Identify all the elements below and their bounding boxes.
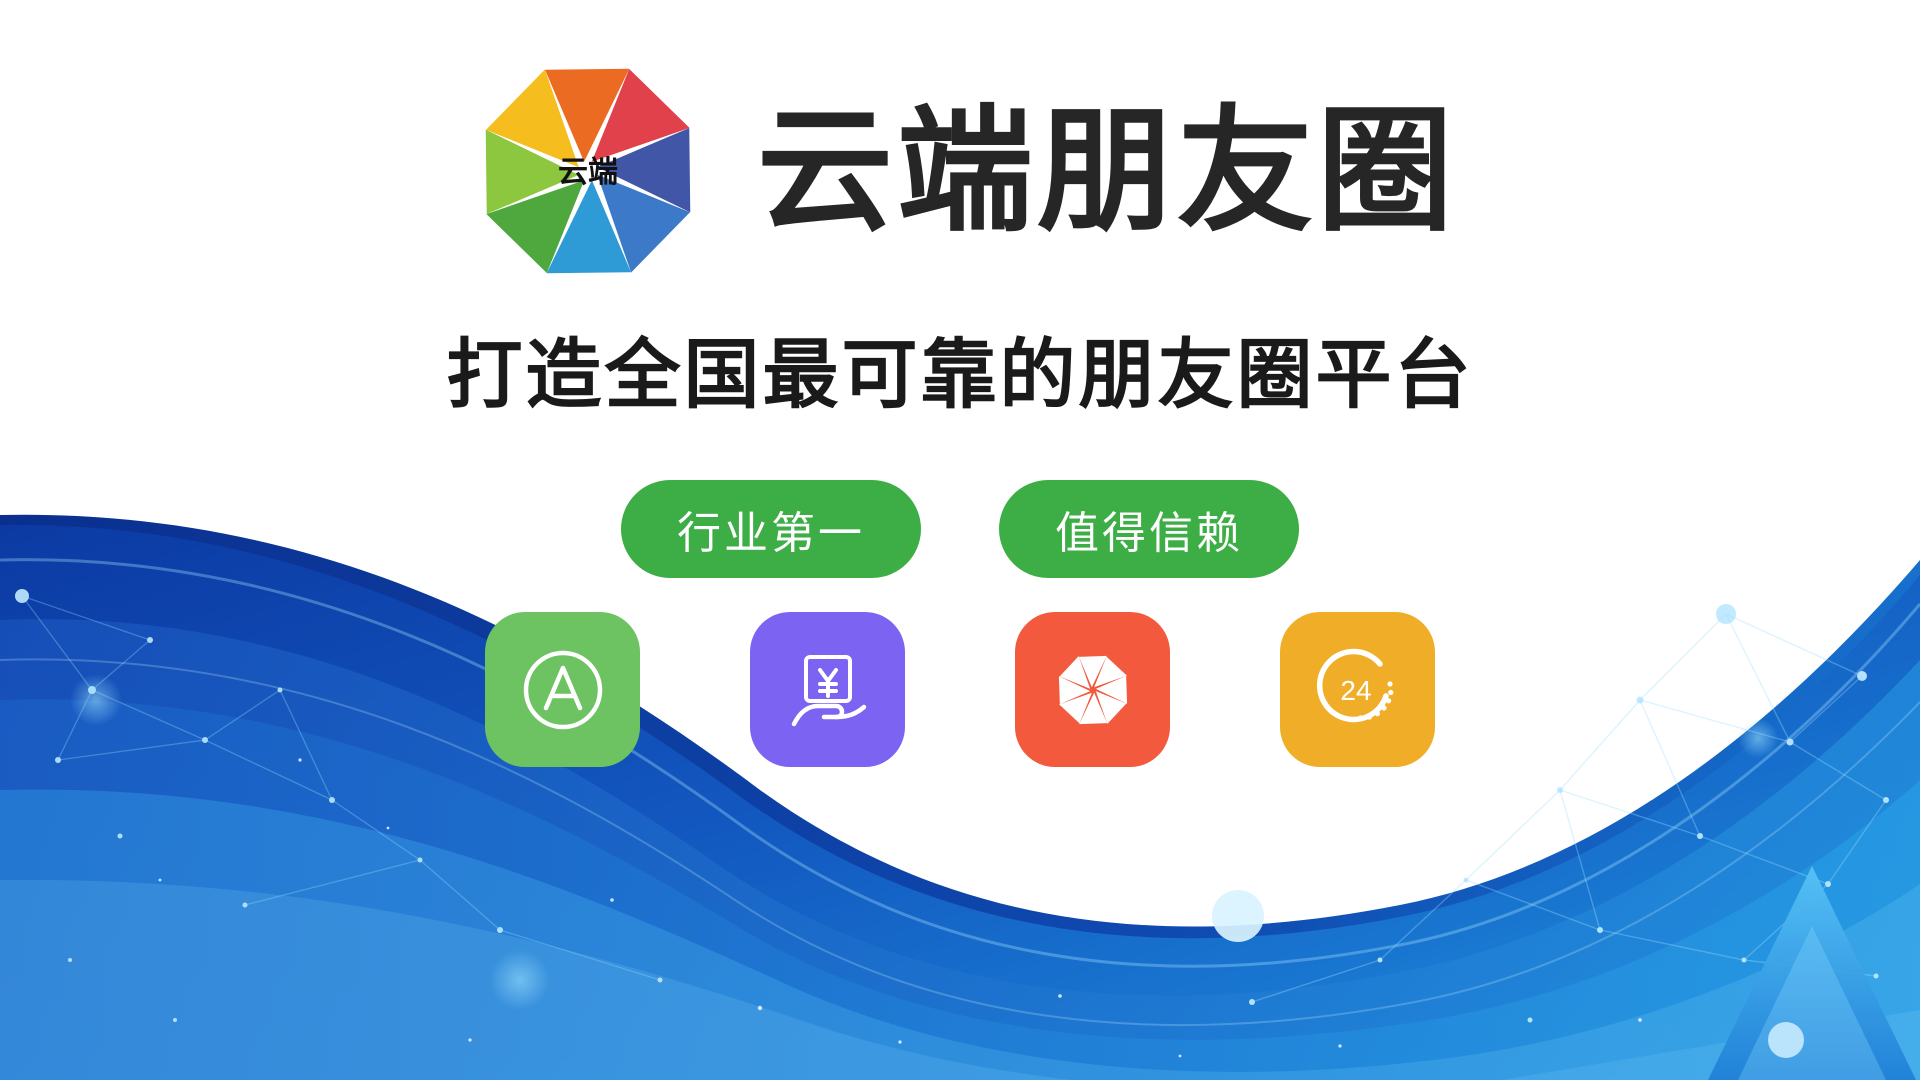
feature-tile-payment[interactable] — [750, 612, 905, 767]
badge-label: 行业第一 — [677, 497, 865, 561]
badge-label: 值得信赖 — [1055, 497, 1243, 561]
feature-tile-camera[interactable] — [1015, 612, 1170, 767]
24-hour-label: 24 — [1340, 675, 1371, 706]
aperture-logo-icon: 云端 — [463, 46, 713, 296]
logo-inner-label: 云端 — [558, 156, 618, 189]
poster-content: 云端 云端朋友圈 打造全国最可靠的朋友圈平台 行业第一 值得信赖 — [0, 0, 1920, 1080]
feature-tile-24h-service[interactable]: 24 — [1280, 612, 1435, 767]
status-badge-trustworthy[interactable]: 值得信赖 — [999, 480, 1299, 578]
feature-tile-authentic[interactable] — [485, 612, 640, 767]
status-badge-industry-first[interactable]: 行业第一 — [621, 480, 921, 578]
poster-canvas: 云端 云端朋友圈 打造全国最可靠的朋友圈平台 行业第一 值得信赖 — [0, 0, 1920, 1080]
hand-yen-money-icon — [778, 640, 878, 740]
badge-group: 行业第一 值得信赖 — [0, 480, 1920, 578]
aperture-camera-icon — [1043, 640, 1143, 740]
brand-header: 云端 云端朋友圈 — [0, 36, 1920, 306]
page-title: 云端朋友圈 — [757, 103, 1457, 239]
24-hour-clock-icon: 24 — [1308, 640, 1408, 740]
subtitle-text: 打造全国最可靠的朋友圈平台 — [0, 336, 1920, 416]
feature-icon-row: 24 — [0, 612, 1920, 767]
circled-a-icon — [513, 640, 613, 740]
